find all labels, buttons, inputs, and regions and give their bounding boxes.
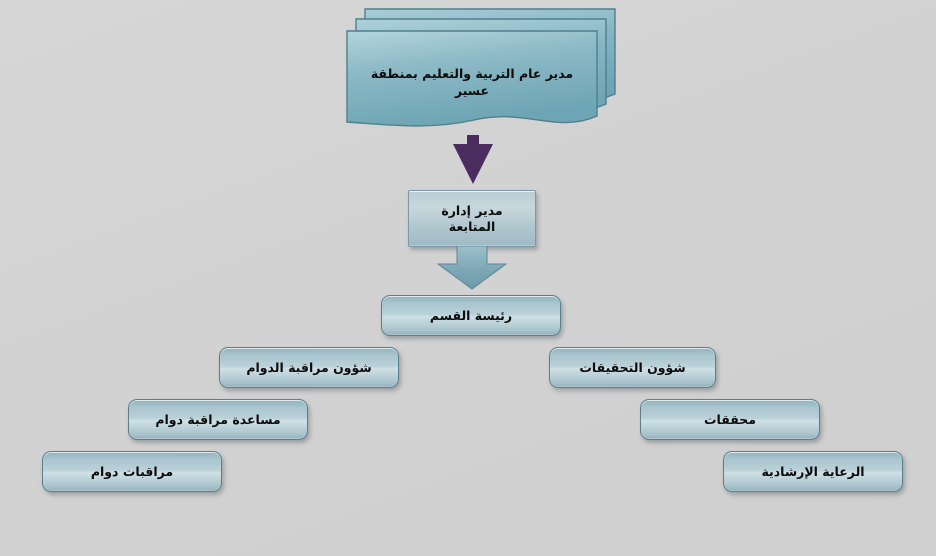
department-head-node[interactable]: رئيسة القسم (381, 295, 561, 336)
department-head-label: رئيسة القسم (430, 308, 512, 324)
right-branch-label-1: شؤون التحقيقات (579, 360, 685, 376)
right-branch-node-1[interactable]: شؤون التحقيقات (549, 347, 716, 388)
left-branch-label-3: مراقبات دوام (91, 464, 173, 480)
left-branch-node-3[interactable]: مراقبات دوام (42, 451, 222, 492)
right-branch-node-2[interactable]: محققات (640, 399, 820, 440)
document-sheet-front: مدير عام التربية والتعليم بمنطقة عسير (346, 30, 598, 135)
left-branch-label-1: شؤون مراقبة الدوام (246, 360, 371, 376)
right-branch-label-3: الرعاية الإرشادية (761, 464, 864, 480)
blue-down-arrow-icon (436, 246, 508, 290)
left-branch-label-2: مساعدة مراقبة دوام (155, 412, 280, 428)
left-branch-node-2[interactable]: مساعدة مراقبة دوام (128, 399, 308, 440)
director-general-node[interactable]: مدير عام التربية والتعليم بمنطقة عسير (346, 8, 616, 132)
follow-up-manager-node[interactable]: مدير إدارة المتابعة (408, 190, 536, 247)
right-branch-label-2: محققات (704, 412, 756, 428)
left-branch-node-1[interactable]: شؤون مراقبة الدوام (219, 347, 399, 388)
right-branch-node-3[interactable]: الرعاية الإرشادية (723, 451, 903, 492)
follow-up-manager-label: مدير إدارة المتابعة (417, 203, 527, 234)
diagram-canvas: مدير عام التربية والتعليم بمنطقة عسير مد… (0, 0, 936, 556)
purple-down-arrow-icon (452, 135, 494, 185)
director-general-label: مدير عام التربية والتعليم بمنطقة عسير (346, 30, 598, 135)
